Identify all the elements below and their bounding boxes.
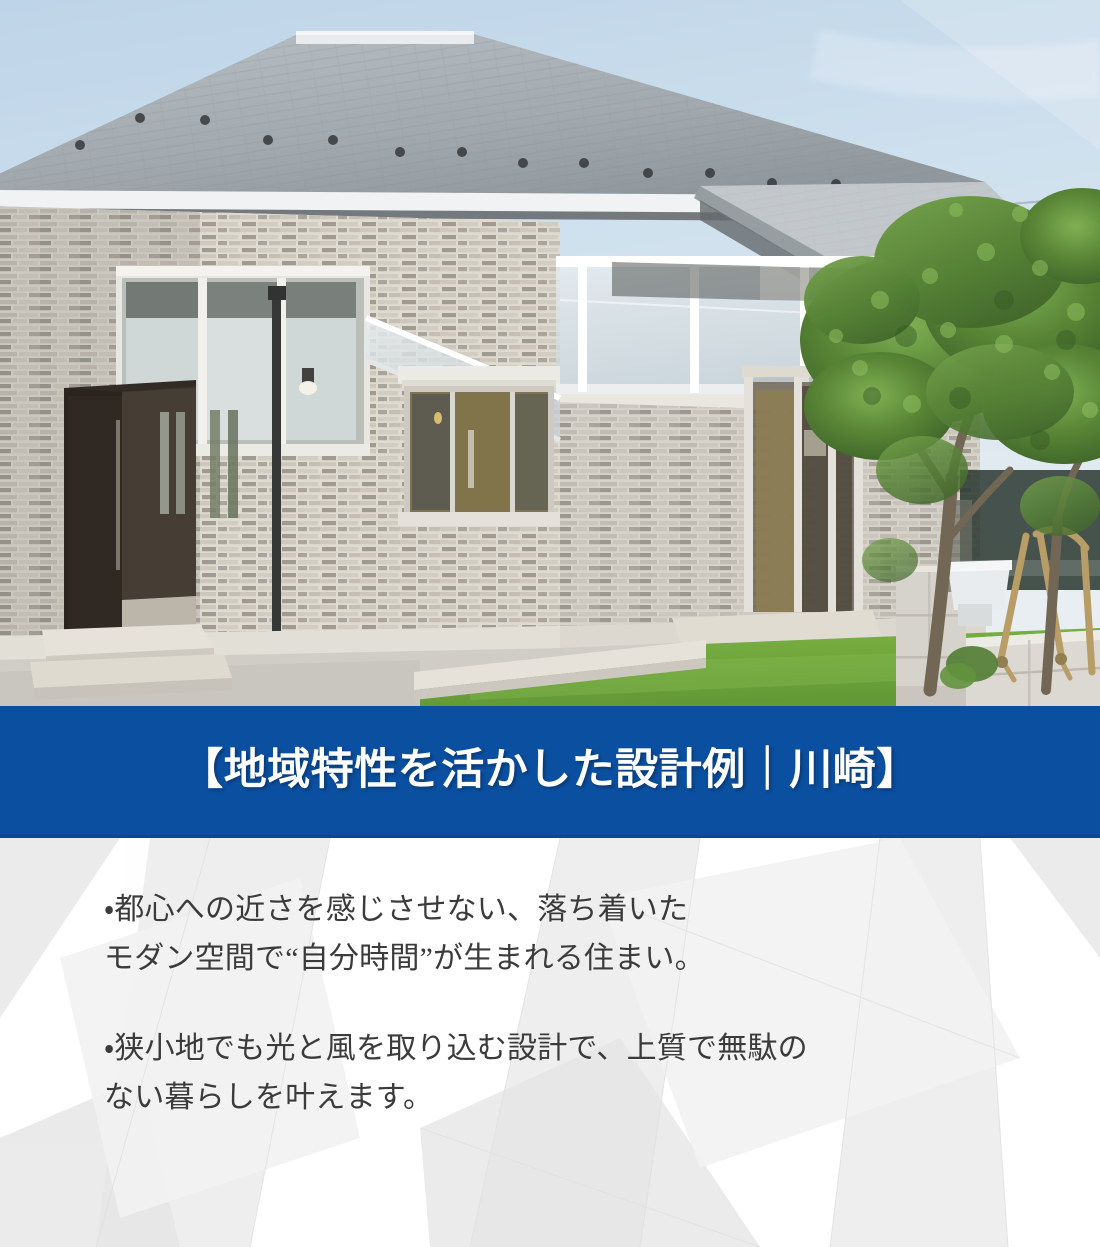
promo-page: 【地域特性を活かした設計例｜川崎】 bbox=[0, 0, 1100, 1247]
description-paragraph-1: ・都心への近さを感じさせない、落ち着いた モダン空間で“自分時間”が生まれる住ま… bbox=[104, 886, 1040, 983]
hero-photo bbox=[0, 0, 1100, 706]
description-copy: ・都心への近さを感じさせない、落ち着いた モダン空間で“自分時間”が生まれる住ま… bbox=[0, 838, 1100, 1247]
page-title: 【地域特性を活かした設計例｜川崎】 bbox=[180, 747, 920, 794]
description-section: ・都心への近さを感じさせない、落ち着いた モダン空間で“自分時間”が生まれる住ま… bbox=[0, 838, 1100, 1247]
description-paragraph-2: ・狭小地でも光と風を取り込む設計で、上質で無駄の ない暮らしを叶えます。 bbox=[104, 1025, 1040, 1122]
title-band: 【地域特性を活かした設計例｜川崎】 bbox=[0, 706, 1100, 838]
